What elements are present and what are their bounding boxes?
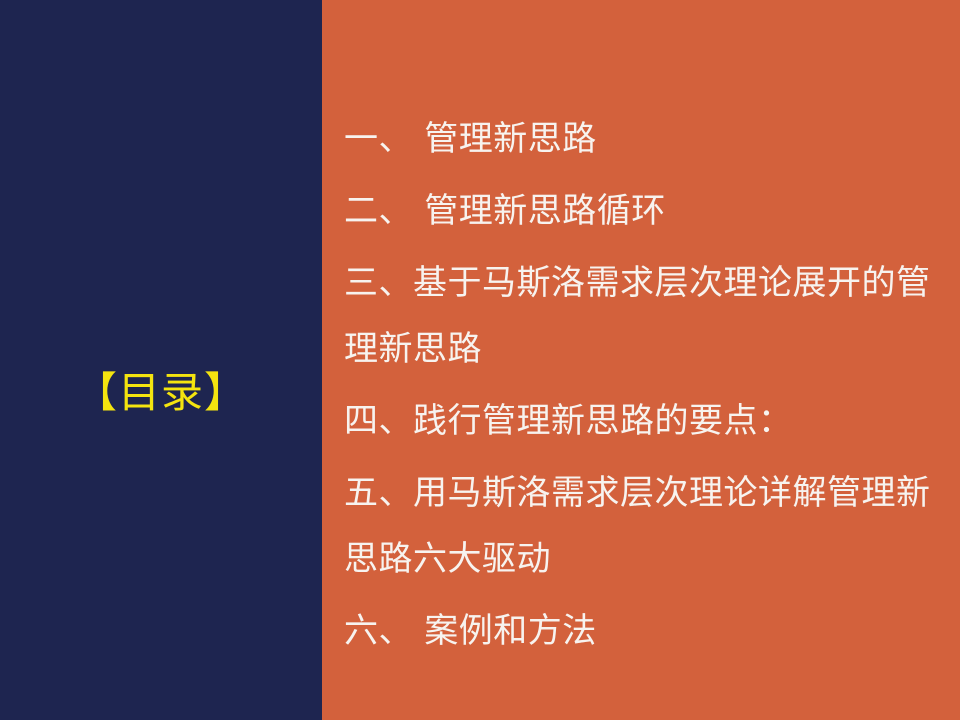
contents-panel: 一、 管理新思路 二、 管理新思路循环 三、基于马斯洛需求层次理论展开的管理新思… (322, 0, 960, 720)
toc-item-1[interactable]: 一、 管理新思路 (344, 106, 960, 172)
toc-item-6[interactable]: 六、 案例和方法 (344, 598, 960, 664)
toc-item-5[interactable]: 五、用马斯洛需求层次理论详解管理新思路六大驱动 (344, 460, 960, 592)
slide-canvas: 【目录】 一、 管理新思路 二、 管理新思路循环 三、基于马斯洛需求层次理论展开… (0, 0, 960, 720)
title-panel: 【目录】 (0, 0, 322, 720)
toc-item-4[interactable]: 四、践行管理新思路的要点： (344, 388, 960, 454)
page-title: 【目录】 (0, 371, 322, 415)
toc-item-2[interactable]: 二、 管理新思路循环 (344, 178, 960, 244)
toc-item-3[interactable]: 三、基于马斯洛需求层次理论展开的管理新思路 (344, 250, 960, 382)
table-of-contents-list: 一、 管理新思路 二、 管理新思路循环 三、基于马斯洛需求层次理论展开的管理新思… (344, 106, 960, 670)
